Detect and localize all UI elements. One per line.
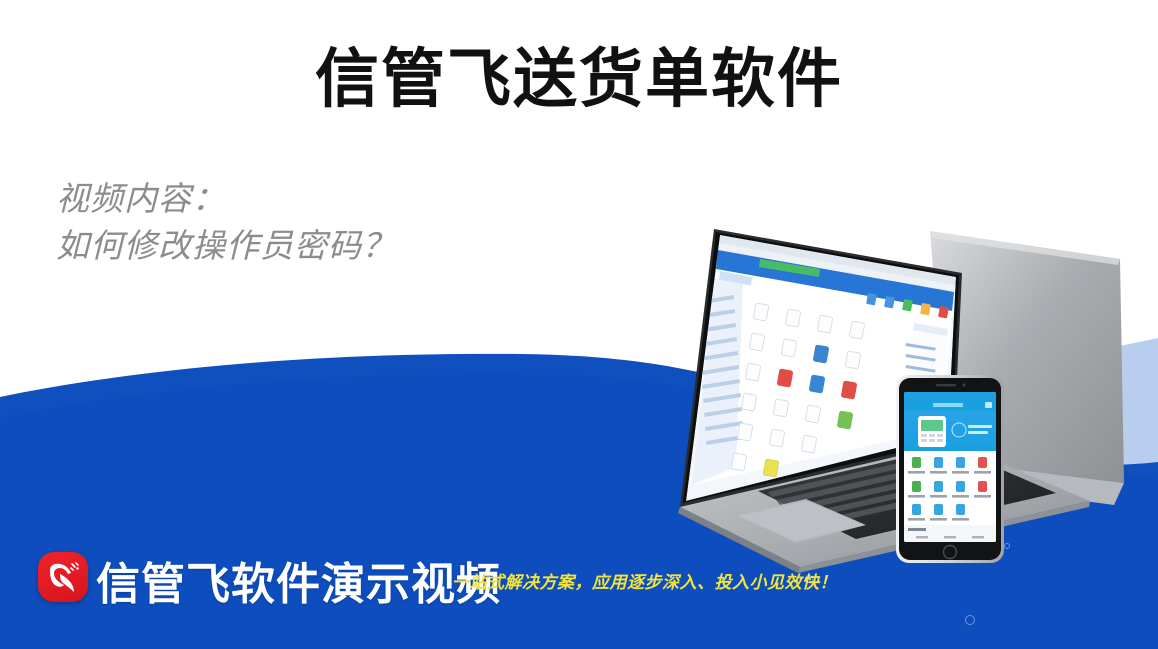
slide-canvas: 信管飞送货单软件 视频内容： 如何修改操作员密码？ xyxy=(0,0,1158,649)
device-mockup-illustration xyxy=(500,215,1158,575)
decor-dot xyxy=(965,615,975,625)
subtitle-line-2: 如何修改操作员密码？ xyxy=(56,223,516,270)
xinguanfei-bird-logo-icon xyxy=(38,552,88,602)
decor-dot xyxy=(805,575,813,583)
page-title: 信管飞送货单软件 xyxy=(0,44,1158,114)
brand-name: 信管飞软件演示视频 xyxy=(96,548,501,612)
phone-device xyxy=(896,375,1004,565)
video-content-subtitle: 视频内容： 如何修改操作员密码？ xyxy=(56,176,516,270)
brand-tagline: 一站式解决方案，应用逐步深入、投入小见效快！ xyxy=(452,568,837,593)
subtitle-line-1: 视频内容： xyxy=(56,176,516,223)
decor-dot xyxy=(1004,543,1010,549)
